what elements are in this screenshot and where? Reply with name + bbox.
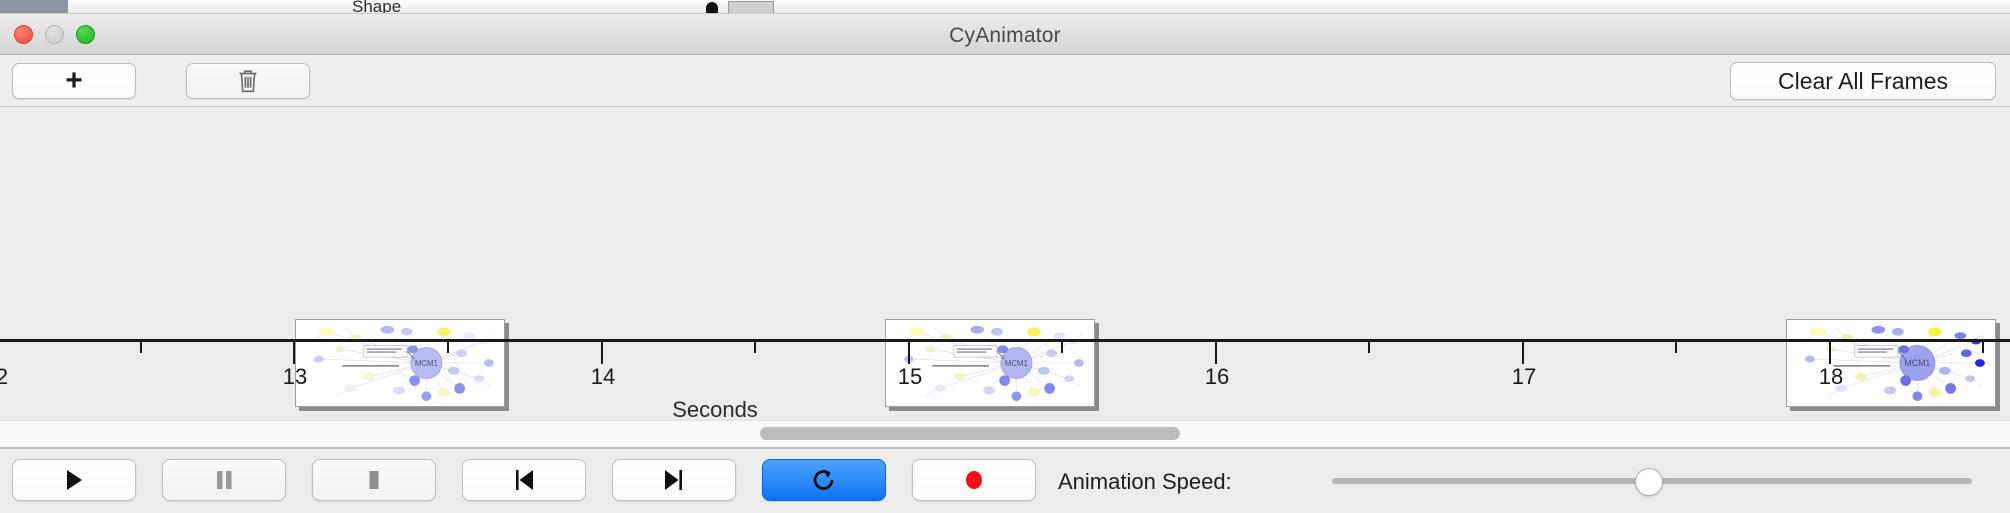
background-window-strip: Shape [0,0,2010,14]
ruler-tick-minor [1061,342,1063,353]
ruler-tick-minor [140,342,142,353]
ruler-tick-minor [1982,342,1984,353]
stop-icon [363,468,385,492]
ruler-tick-major [908,342,910,364]
ruler-tick-major [601,342,603,364]
play-button[interactable] [12,459,136,501]
skip-previous-icon [511,468,537,492]
ruler-tick-minor [1368,342,1370,353]
ruler-label: 2 [0,364,8,390]
ruler-label: 16 [1205,364,1229,390]
pause-icon [213,468,235,492]
ruler-label: 13 [283,364,307,390]
ruler-tick-major [1522,342,1524,364]
ruler-tick-major [293,342,295,364]
animation-speed-slider-thumb[interactable] [1635,468,1663,496]
record-icon [962,468,986,492]
background-panel-7 [1822,0,2010,14]
scrollbar-thumb[interactable] [760,427,1180,440]
background-panel-1 [68,0,179,14]
background-selected-tab [0,0,68,13]
add-frame-button[interactable]: + [12,63,136,99]
cyanimator-window: CyAnimator + Clear All Frames [0,13,2010,511]
play-icon [63,468,85,492]
ruler-label: 17 [1512,364,1536,390]
loop-button[interactable] [762,459,886,501]
window-title: CyAnimator [0,24,2010,48]
axis-title-text: Seconds [672,397,758,422]
ruler-label: 18 [1819,364,1843,390]
animation-speed-label: Animation Speed: [1058,469,1232,495]
ruler-tick-minor [754,342,756,353]
timeline-panel[interactable]: MCM1 [0,107,2010,447]
pause-button[interactable] [162,459,286,501]
ruler-label: 15 [898,364,922,390]
ruler-tick-major [1215,342,1217,364]
background-panel-5 [442,0,1003,14]
loop-icon [811,467,837,493]
playback-controlbar: Animation Speed: [0,447,2010,513]
background-panel-2 [178,0,241,14]
skip-next-icon [661,468,687,492]
timeline-ruler[interactable]: 2 13 14 15 16 17 18 [0,339,2010,399]
plus-icon: + [65,66,83,96]
frames-track[interactable]: MCM1 [0,107,2010,339]
timeline-scrollbar[interactable] [0,420,2010,447]
ruler-tick-minor [1675,342,1677,353]
frame-toolbar: + Clear All Frames [0,55,2010,107]
ruler-tick-major [1829,342,1831,364]
delete-frame-button[interactable] [186,63,310,99]
ruler-baseline [0,339,2010,342]
stop-button[interactable] [312,459,436,501]
ruler-tick-minor [447,342,449,353]
next-frame-button[interactable] [612,459,736,501]
background-window-label: Shape [352,0,401,14]
ruler-label: 14 [591,364,615,390]
background-panel-3 [240,0,303,14]
background-panel-6 [1002,0,1823,14]
record-button[interactable] [912,459,1036,501]
trash-icon [237,68,259,94]
clear-all-frames-button[interactable]: Clear All Frames [1730,62,1996,100]
previous-frame-button[interactable] [462,459,586,501]
window-titlebar[interactable]: CyAnimator [0,14,2010,55]
